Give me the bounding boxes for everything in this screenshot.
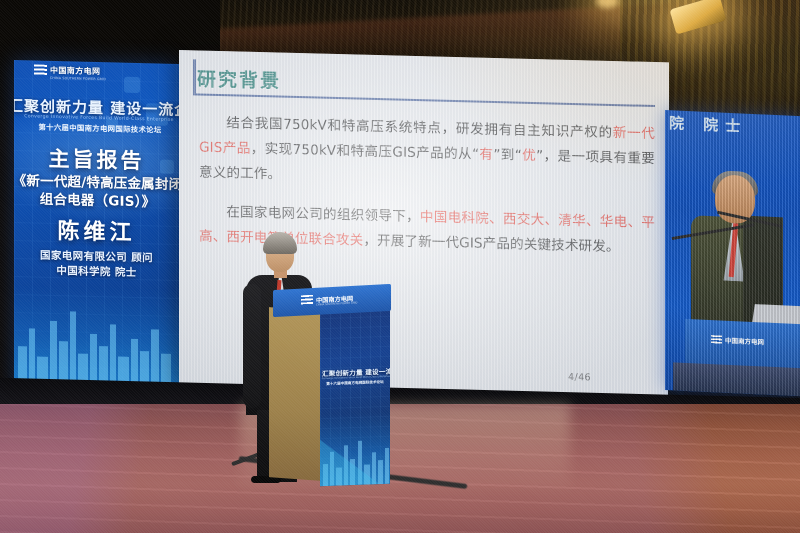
podium-front-panel: 汇聚创新力量 建设一流企业 Converge Innovative Forces…: [320, 306, 390, 486]
banner-cityscape-graphic: [14, 285, 179, 394]
csg-mark-icon: [34, 64, 47, 75]
slide-title: 研究背景: [197, 64, 281, 93]
video-overlay-text: 院 院士: [669, 112, 747, 137]
p2-seg2: ，开展了新一代GIS产品的关键技术研发。: [363, 233, 619, 255]
p1-seg1: 结合我国750kV和特高压系统特点，研发拥有自主知识产权的: [226, 115, 613, 141]
podium: 汇聚创新力量 建设一流企业 Converge Innovative Forces…: [275, 287, 389, 479]
p1-highlight-2: 有: [479, 147, 493, 163]
video-table-base: [673, 362, 800, 396]
slide-page-indicator: 4/46: [568, 372, 591, 384]
slide-paragraph-1: 结合我国750kV和特高压系统特点，研发拥有自主知识产权的新一代GIS产品，实现…: [199, 111, 655, 198]
banner-square-decor: [124, 77, 140, 93]
p1-highlight-3: 优: [522, 148, 536, 164]
banner-speaker-name: 陈维江: [14, 212, 179, 248]
csg-mark-icon: [301, 295, 313, 306]
csg-mark-icon: [711, 335, 722, 344]
banner-org-logo: 中国南方电网 CHINA SOUTHERN POWER GRID: [34, 64, 100, 77]
p1-seg2: ，实现750kV和特高压GIS产品的从“: [251, 141, 479, 163]
slide-title-accent-bar: [193, 59, 196, 93]
banner-speaker-affiliation: 国家电网有限公司 顾问 中国科学院 院士: [14, 248, 179, 282]
slide-title-underline: [193, 93, 655, 107]
podium-top-logo: 中国南方电网 CHINA SOUTHERN POWER GRID: [301, 293, 353, 306]
podium-diagonal-accent: [320, 424, 390, 486]
p1-seg3: ”到“: [493, 147, 522, 164]
conference-stage-scene: 中国南方电网 CHINA SOUTHERN POWER GRID 汇聚创新力量 …: [0, 0, 800, 533]
banner-talk-title: 《新一代超/特高压金属封闭 组合电器（GIS）》: [14, 172, 179, 212]
p2-seg1: 在国家电网公司的组织领导下，: [226, 204, 420, 225]
live-video-screen: 院 院士 中国南方电网: [665, 110, 800, 396]
left-banner-screen: 中国南方电网 CHINA SOUTHERN POWER GRID 汇聚创新力量 …: [14, 60, 179, 394]
video-podium-logo-text: 中国南方电网: [725, 335, 764, 347]
podium-side-panel: [269, 307, 321, 481]
banner-session-kind: 主旨报告: [14, 142, 179, 176]
